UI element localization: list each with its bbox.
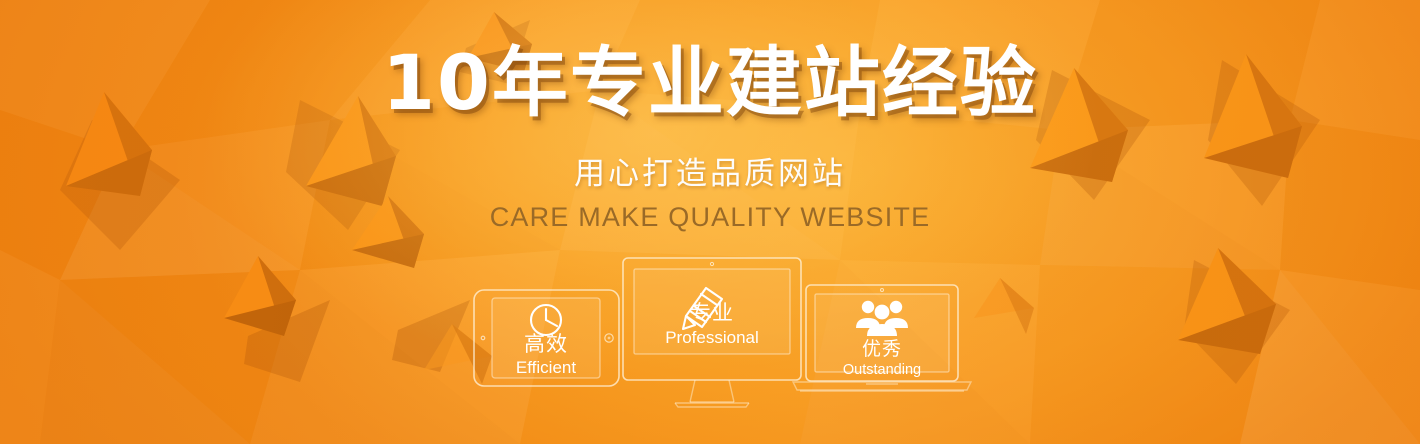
page-title: 10年专业建站经验 [0, 42, 1420, 124]
monitor-camera-icon [710, 262, 713, 265]
feature-card-professional: 专业 Professional [623, 258, 801, 407]
feature-label-cn-professional: 专业 [690, 301, 734, 325]
subtitle-chinese: 用心打造品质网站 [0, 155, 1420, 193]
feature-label-en-outstanding: Outstanding [843, 362, 921, 378]
feature-label-en-professional: Professional [665, 328, 759, 347]
feature-card-outstanding: 优秀 Outstanding [793, 285, 971, 391]
feature-label-cn-outstanding: 优秀 [862, 338, 902, 360]
laptop-camera-icon [881, 289, 884, 292]
feature-label-en-efficient: Efficient [516, 358, 576, 377]
feature-card-efficient: 高效 Efficient [474, 290, 619, 386]
feature-label-cn-efficient: 高效 [524, 332, 568, 356]
promo-banner: 10年专业建站经验 用心打造品质网站 CARE MAKE QUALITY WEB… [0, 0, 1420, 444]
device-illustration-group: 高效 Efficient [0, 250, 1420, 430]
tablet-camera-icon [481, 336, 485, 340]
subtitle-english: CARE MAKE QUALITY WEBSITE [0, 201, 1420, 234]
